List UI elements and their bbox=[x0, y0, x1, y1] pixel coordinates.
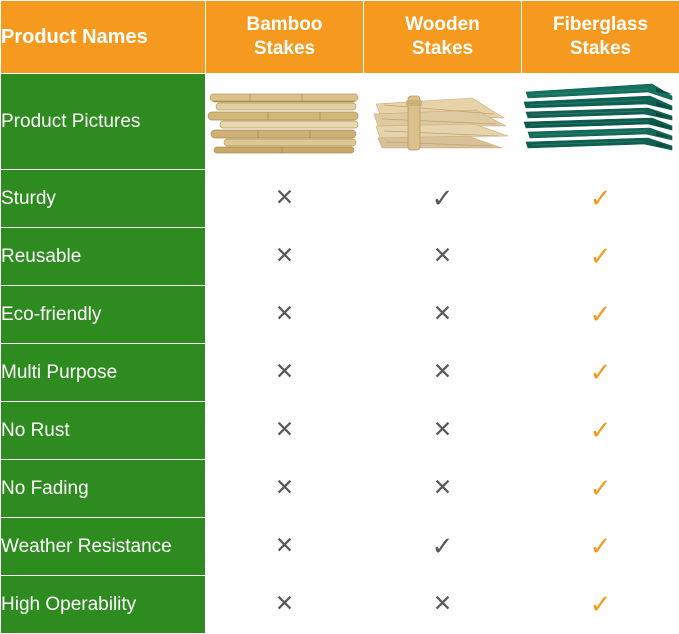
cell-value: ✓ bbox=[522, 344, 679, 402]
cell-value: ✕ bbox=[206, 402, 364, 460]
check-icon-highlighted: ✓ bbox=[590, 184, 612, 214]
table-row: Weather Resistance✕✓✓ bbox=[1, 518, 679, 576]
header-product-3-line2: Stakes bbox=[522, 37, 679, 61]
fiberglass-stakes-illustration bbox=[522, 74, 678, 169]
cross-icon: ✕ bbox=[275, 243, 294, 269]
cell-bamboo-stakes-photo bbox=[206, 74, 364, 170]
row-label: No Fading bbox=[1, 460, 206, 518]
check-icon: ✓ bbox=[432, 532, 454, 562]
product-comparison-table: Product Names Bamboo Stakes Wooden Stake… bbox=[0, 0, 679, 634]
cross-icon: ✕ bbox=[433, 591, 452, 617]
cell-value: ✕ bbox=[364, 460, 522, 518]
cell-value: ✓ bbox=[364, 170, 522, 228]
table-row: Multi Purpose✕✕✓ bbox=[1, 344, 679, 402]
table-header-row: Product Names Bamboo Stakes Wooden Stake… bbox=[1, 1, 679, 74]
cross-icon: ✕ bbox=[433, 301, 452, 327]
cell-value: ✓ bbox=[522, 402, 679, 460]
cell-value: ✕ bbox=[206, 576, 364, 634]
cell-value: ✕ bbox=[206, 228, 364, 286]
cell-value: ✓ bbox=[364, 518, 522, 576]
table-picture-row: Product Pictures bbox=[1, 74, 679, 170]
row-label: No Rust bbox=[1, 402, 206, 460]
check-icon-highlighted: ✓ bbox=[590, 242, 612, 272]
bamboo-stakes-illustration bbox=[206, 74, 362, 169]
cross-icon: ✕ bbox=[433, 417, 452, 443]
cross-icon: ✕ bbox=[275, 475, 294, 501]
cell-value: ✓ bbox=[522, 228, 679, 286]
header-product-2-line1: Wooden bbox=[364, 13, 521, 37]
row-label: High Operability bbox=[1, 576, 206, 634]
row-label: Reusable bbox=[1, 228, 206, 286]
cell-value: ✓ bbox=[522, 518, 679, 576]
cross-icon: ✕ bbox=[275, 185, 294, 211]
check-icon: ✓ bbox=[432, 184, 454, 214]
cell-value: ✕ bbox=[364, 228, 522, 286]
cross-icon: ✕ bbox=[275, 359, 294, 385]
cell-value: ✕ bbox=[364, 402, 522, 460]
cross-icon: ✕ bbox=[433, 475, 452, 501]
row-label-product-pictures: Product Pictures bbox=[1, 74, 206, 170]
check-icon-highlighted: ✓ bbox=[590, 358, 612, 388]
header-product-3-line1: Fiberglass bbox=[522, 13, 679, 37]
header-product-3: Fiberglass Stakes bbox=[522, 1, 679, 74]
table-row: No Rust✕✕✓ bbox=[1, 402, 679, 460]
cross-icon: ✕ bbox=[275, 533, 294, 559]
table-row: High Operability✕✕✓ bbox=[1, 576, 679, 634]
cell-wooden-stakes-photo bbox=[364, 74, 522, 170]
fiberglass-stakes-photo bbox=[522, 74, 679, 169]
wooden-stakes-illustration bbox=[364, 74, 520, 169]
cell-value: ✕ bbox=[206, 460, 364, 518]
cell-value: ✓ bbox=[522, 460, 679, 518]
cell-value: ✓ bbox=[522, 286, 679, 344]
cell-value: ✕ bbox=[206, 344, 364, 402]
wooden-stakes-photo bbox=[364, 74, 521, 169]
header-product-names: Product Names bbox=[1, 1, 206, 74]
cross-icon: ✕ bbox=[433, 243, 452, 269]
table-row: Sturdy✕✓✓ bbox=[1, 170, 679, 228]
table-row: No Fading✕✕✓ bbox=[1, 460, 679, 518]
cell-value: ✕ bbox=[364, 576, 522, 634]
cell-value: ✕ bbox=[364, 286, 522, 344]
row-label: Eco-friendly bbox=[1, 286, 206, 344]
table-row: Eco-friendly✕✕✓ bbox=[1, 286, 679, 344]
header-product-1-line2: Stakes bbox=[206, 37, 363, 61]
row-label: Weather Resistance bbox=[1, 518, 206, 576]
header-product-2: Wooden Stakes bbox=[364, 1, 522, 74]
cross-icon: ✕ bbox=[275, 301, 294, 327]
cross-icon: ✕ bbox=[275, 417, 294, 443]
row-label: Sturdy bbox=[1, 170, 206, 228]
cell-value: ✕ bbox=[206, 286, 364, 344]
check-icon-highlighted: ✓ bbox=[590, 474, 612, 504]
check-icon-highlighted: ✓ bbox=[590, 416, 612, 446]
cell-value: ✕ bbox=[364, 344, 522, 402]
cell-value: ✕ bbox=[206, 518, 364, 576]
check-icon-highlighted: ✓ bbox=[590, 532, 612, 562]
row-label: Multi Purpose bbox=[1, 344, 206, 402]
check-icon-highlighted: ✓ bbox=[590, 300, 612, 330]
cross-icon: ✕ bbox=[433, 359, 452, 385]
check-icon-highlighted: ✓ bbox=[590, 590, 612, 620]
header-product-1-line1: Bamboo bbox=[206, 13, 363, 37]
cell-fiberglass-stakes-photo bbox=[522, 74, 679, 170]
bamboo-stakes-photo bbox=[206, 74, 363, 169]
cell-value: ✓ bbox=[522, 170, 679, 228]
cell-value: ✓ bbox=[522, 576, 679, 634]
cross-icon: ✕ bbox=[275, 591, 294, 617]
header-product-1: Bamboo Stakes bbox=[206, 1, 364, 74]
table-row: Reusable✕✕✓ bbox=[1, 228, 679, 286]
header-product-2-line2: Stakes bbox=[364, 37, 521, 61]
cell-value: ✕ bbox=[206, 170, 364, 228]
